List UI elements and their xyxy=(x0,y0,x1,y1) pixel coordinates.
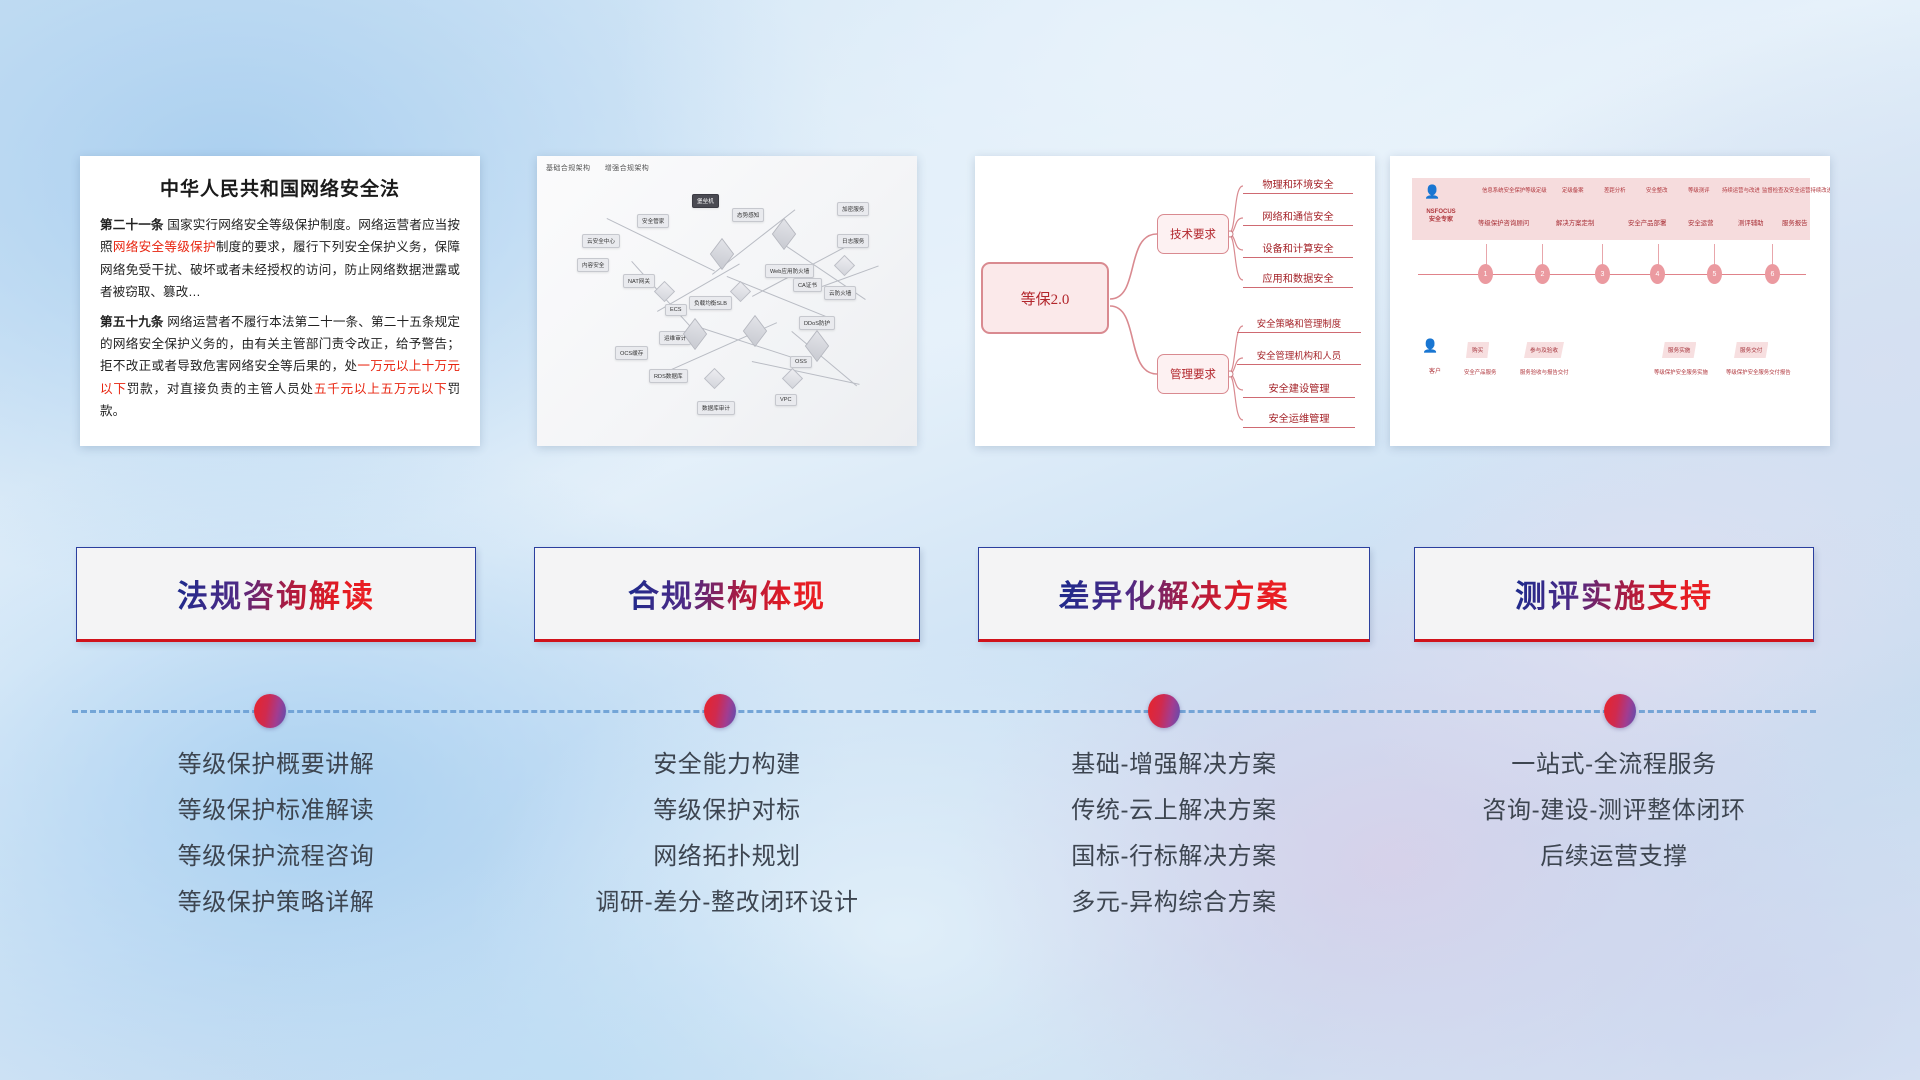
arch-node-5: ECS xyxy=(665,304,687,316)
roadmap-br-1-title: 服务交付 xyxy=(1740,346,1762,354)
roadmap-top-label-4: 等级测评 xyxy=(1688,186,1710,194)
detail-list-column-4: 一站式-全流程服务 咨询-建设-测评整体闭环 后续运营支撑 xyxy=(1414,742,1814,880)
mindmap-branch-technical[interactable]: 技术要求 xyxy=(1157,214,1229,254)
customer-person-icon: 👤 xyxy=(1422,338,1438,354)
roadmap-bottom-left-0: 购买 xyxy=(1466,342,1489,358)
list-item: 等级保护对标 xyxy=(534,788,920,834)
architecture-header-enhanced: 增强合规架构 xyxy=(605,165,649,172)
architecture-diagram: 基础合规架构 增强合规架构 堡垒机 安全管家 负载均衡SLB Web应用防火墙 xyxy=(537,156,917,446)
roadmap-axis xyxy=(1418,274,1806,275)
article-59-fine-2: 五千元以上五万元以下 xyxy=(314,382,448,396)
card-evaluation-roadmap[interactable]: 👤 NSFOCUS 安全专家 信息系统安全保护等级定级 定级备案 差距分析 安全… xyxy=(1390,156,1830,446)
header-label-2: 差异化解决方案 xyxy=(1059,571,1290,616)
arch-node-3: Web应用防火墙 xyxy=(765,264,814,278)
header-label-0: 法规咨询解读 xyxy=(177,571,375,616)
roadmap-stage-label-1: 解决方案定制 xyxy=(1556,218,1594,227)
roadmap-bl-0-sub: 安全产品服务 xyxy=(1464,368,1496,376)
roadmap-stage-label-2: 安全产品部署 xyxy=(1628,218,1666,227)
list-item: 咨询-建设-测评整体闭环 xyxy=(1414,788,1814,834)
list-item: 等级保护概要讲解 xyxy=(76,742,476,788)
arch-node-13: CA证书 xyxy=(793,278,822,292)
mindmap-leaf-mgmt-0: 安全策略和管理制度 xyxy=(1237,316,1361,333)
header-label-3: 测评实施支持 xyxy=(1515,571,1713,616)
card-dengbao-mindmap[interactable]: 等保2.0 技术要求 物理和环境安全 网络和通信安全 设备和计算安全 应用和数据… xyxy=(975,156,1375,446)
article-59-text-b: 罚款，对直接负责的主管人员处 xyxy=(127,382,314,396)
list-item: 调研-差分-整改闭环设计 xyxy=(534,880,920,926)
arch-node-10: 态势感知 xyxy=(732,208,764,222)
roadmap-bl-1-title: 参与及验收 xyxy=(1530,346,1558,354)
article-59-label: 第五十九条 xyxy=(100,315,164,329)
arch-node-17: NAT网关 xyxy=(623,274,655,288)
mindmap-leaf-mgmt-2: 安全建设管理 xyxy=(1243,380,1355,398)
arch-node-19: 加密服务 xyxy=(837,202,869,216)
roadmap-stage-label-4: 测评辅助 xyxy=(1738,218,1764,227)
arch-node-4: 云防火墙 xyxy=(824,286,856,300)
roadmap-bottom-right-1: 服务交付 xyxy=(1734,342,1768,358)
law-article-59: 第五十九条 网络运营者不履行本法第二十一条、第二十五条规定的网络安全保护义务的，… xyxy=(100,311,460,423)
list-item: 后续运营支撑 xyxy=(1414,834,1814,880)
arch-node-9: 数据库审计 xyxy=(697,401,735,415)
list-item: 网络拓扑规划 xyxy=(534,834,920,880)
roadmap-br-0-title: 服务实施 xyxy=(1668,346,1690,354)
list-item: 传统-云上解决方案 xyxy=(978,788,1370,834)
card-cybersecurity-law[interactable]: 中华人民共和国网络安全法 第二十一条 国家实行网络安全等级保护制度。网络运营者应… xyxy=(80,156,480,446)
section-headers-row: 法规咨询解读 合规架构体现 差异化解决方案 测评实施支持 xyxy=(0,547,1920,642)
roadmap-bottom-left-1: 参与及验收 xyxy=(1524,342,1564,358)
mindmap-root[interactable]: 等保2.0 xyxy=(981,262,1109,334)
list-item: 等级保护流程咨询 xyxy=(76,834,476,880)
arch-node-15: 内容安全 xyxy=(577,258,609,272)
timeline-dot-2[interactable] xyxy=(704,694,736,728)
roadmap-step-2: 2 xyxy=(1535,264,1550,284)
mindmap-leaf-mgmt-1: 安全管理机构和人员 xyxy=(1237,348,1361,365)
arch-node-8: VPC xyxy=(775,394,797,406)
brand-name: NSFOCUS xyxy=(1414,208,1468,216)
roadmap-top-label-2: 差距分析 xyxy=(1604,186,1626,194)
detail-list-column-1: 等级保护概要讲解 等级保护标准解读 等级保护流程咨询 等级保护策略详解 xyxy=(76,742,476,926)
list-item: 安全能力构建 xyxy=(534,742,920,788)
roadmap-step-3: 3 xyxy=(1595,264,1610,284)
list-item: 国标-行标解决方案 xyxy=(978,834,1370,880)
roadmap-step-4: 4 xyxy=(1650,264,1665,284)
law-title: 中华人民共和国网络安全法 xyxy=(100,174,460,201)
arch-node-7: OSS xyxy=(790,356,812,368)
arch-node-0: 堡垒机 xyxy=(692,194,719,208)
roadmap-bl-1-sub: 服务验收与报告交付 xyxy=(1520,368,1569,376)
customer-label: 客户 xyxy=(1414,368,1456,376)
arch-node-12: DDoS防护 xyxy=(799,316,835,330)
timeline-dot-3[interactable] xyxy=(1148,694,1180,728)
list-item: 基础-增强解决方案 xyxy=(978,742,1370,788)
header-box-evaluation-support[interactable]: 测评实施支持 xyxy=(1414,547,1814,642)
mindmap: 等保2.0 技术要求 物理和环境安全 网络和通信安全 设备和计算安全 应用和数据… xyxy=(975,156,1375,446)
roadmap-bl-0-title: 购买 xyxy=(1472,346,1483,354)
header-box-compliance-architecture[interactable]: 合规架构体现 xyxy=(534,547,920,642)
architecture-diagram-header: 基础合规架构 增强合规架构 xyxy=(546,163,661,173)
roadmap-stage-label-0: 等级保护咨询顾问 xyxy=(1478,218,1529,227)
roadmap-br-0-sub: 等级保护安全服务实施 xyxy=(1654,368,1708,376)
timeline xyxy=(0,694,1920,728)
arch-node-16: OCS缓存 xyxy=(615,346,648,360)
arch-node-2: 负载均衡SLB xyxy=(689,296,732,310)
card-compliance-architecture[interactable]: 基础合规架构 增强合规架构 堡垒机 安全管家 负载均衡SLB Web应用防火墙 xyxy=(537,156,917,446)
roadmap-stage-label-5: 服务报告 xyxy=(1782,218,1808,227)
brand-sub: 安全专家 xyxy=(1414,216,1468,224)
architecture-header-basic: 基础合规架构 xyxy=(546,165,590,172)
header-box-differentiated-solutions[interactable]: 差异化解决方案 xyxy=(978,547,1370,642)
list-item: 等级保护策略详解 xyxy=(76,880,476,926)
list-item: 一站式-全流程服务 xyxy=(1414,742,1814,788)
law-document: 中华人民共和国网络安全法 第二十一条 国家实行网络安全等级保护制度。网络运营者应… xyxy=(80,156,480,440)
list-item: 多元-异构综合方案 xyxy=(978,880,1370,926)
detail-list-column-2: 安全能力构建 等级保护对标 网络拓扑规划 调研-差分-整改闭环设计 xyxy=(534,742,920,926)
roadmap-diagram: 👤 NSFOCUS 安全专家 信息系统安全保护等级定级 定级备案 差距分析 安全… xyxy=(1390,156,1830,446)
mindmap-leaf-tech-0: 物理和环境安全 xyxy=(1243,176,1353,194)
roadmap-step-5: 5 xyxy=(1707,264,1722,284)
expert-person-icon: 👤 xyxy=(1424,184,1440,200)
timeline-dot-1[interactable] xyxy=(254,694,286,728)
roadmap-top-label-1: 定级备案 xyxy=(1562,186,1584,194)
roadmap-step-1: 1 xyxy=(1478,264,1493,284)
arch-node-1: 安全管家 xyxy=(637,214,669,228)
roadmap-bottom-right-0: 服务实施 xyxy=(1662,342,1696,358)
roadmap-step-6: 6 xyxy=(1765,264,1780,284)
roadmap-top-label-3: 安全整改 xyxy=(1646,186,1668,194)
roadmap-br-1-sub: 等级保护安全服务交付报告 xyxy=(1726,368,1791,376)
timeline-dot-4[interactable] xyxy=(1604,694,1636,728)
roadmap-stage-label-3: 安全运营 xyxy=(1688,218,1714,227)
detail-list-column-3: 基础-增强解决方案 传统-云上解决方案 国标-行标解决方案 多元-异构综合方案 xyxy=(978,742,1370,926)
list-item: 等级保护标准解读 xyxy=(76,788,476,834)
mindmap-leaf-tech-1: 网络和通信安全 xyxy=(1243,208,1353,226)
arch-node-11: 云安全中心 xyxy=(582,234,620,248)
timeline-dashed-line xyxy=(72,710,1816,713)
header-label-1: 合规架构体现 xyxy=(628,571,826,616)
roadmap-top-label-0: 信息系统安全保护等级定级 xyxy=(1482,186,1547,194)
arch-node-6: RDS数据库 xyxy=(649,369,688,383)
mindmap-leaf-mgmt-3: 安全运维管理 xyxy=(1243,410,1355,428)
mindmap-branch-management[interactable]: 管理要求 xyxy=(1157,354,1229,394)
roadmap-top-label-5: 持续运营与改进 xyxy=(1722,186,1760,194)
arch-node-14: 日志服务 xyxy=(837,234,869,248)
mindmap-leaf-tech-2: 设备和计算安全 xyxy=(1243,240,1353,258)
reference-cards-row: 中华人民共和国网络安全法 第二十一条 国家实行网络安全等级保护制度。网络运营者应… xyxy=(0,156,1920,446)
roadmap-top-label-6: 监督检查及安全运营持续改进 xyxy=(1762,186,1830,194)
law-article-21: 第二十一条 国家实行网络安全等级保护制度。网络运营者应当按照网络安全等级保护制度… xyxy=(100,214,460,304)
article-21-highlight: 网络安全等级保护 xyxy=(113,240,216,254)
header-box-regulation-consulting[interactable]: 法规咨询解读 xyxy=(76,547,476,642)
article-21-label: 第二十一条 xyxy=(100,218,164,232)
mindmap-leaf-tech-3: 应用和数据安全 xyxy=(1243,270,1353,288)
